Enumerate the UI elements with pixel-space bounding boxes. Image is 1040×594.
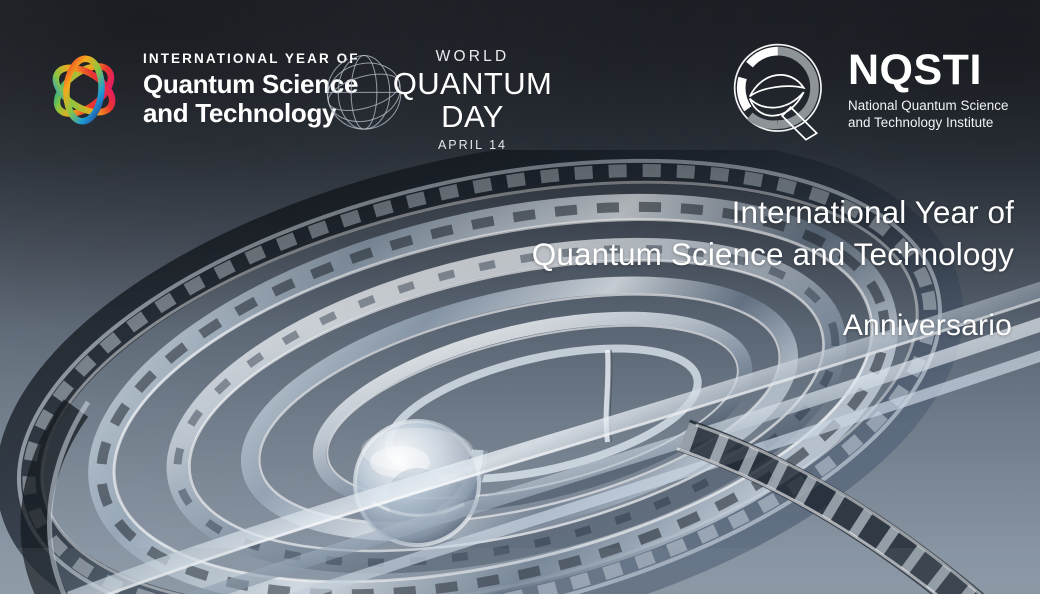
nqsti-subtitle: National Quantum Science and Technology …	[848, 97, 1009, 131]
nqsti-logo: NQSTI National Quantum Science and Techn…	[726, 36, 1009, 144]
slide-headline: International Year of Quantum Science an…	[374, 192, 1014, 276]
nqsti-logo-text: NQSTI National Quantum Science and Techn…	[848, 49, 1009, 131]
headline-line-1: International Year of	[374, 192, 1014, 234]
nqsti-acronym: NQSTI	[848, 49, 1009, 92]
wqd-quantum-day-text: QUANTUM DAY	[370, 68, 575, 133]
nqsti-q-monogram-icon	[726, 36, 834, 144]
world-quantum-day-logo: WORLD QUANTUM DAY APRIL 14	[318, 48, 573, 143]
iyq-atom-logo-icon	[38, 44, 130, 136]
slide-subtitle: Anniversario	[412, 309, 1012, 343]
wqd-logo-text: WORLD QUANTUM DAY APRIL 14	[370, 48, 575, 152]
headline-line-2: Quantum Science and Technology	[374, 234, 1014, 276]
nqsti-subtitle-line-2: and Technology Institute	[848, 115, 993, 130]
international-year-of-quantum-logo: INTERNATIONAL YEAR OF Quantum Science an…	[38, 44, 360, 136]
presentation-slide: INTERNATIONAL YEAR OF Quantum Science an…	[0, 0, 1040, 594]
wqd-world-text: WORLD	[370, 48, 575, 66]
wqd-date-text: APRIL 14	[370, 138, 575, 152]
nqsti-subtitle-line-1: National Quantum Science	[848, 98, 1009, 113]
logo-bar: INTERNATIONAL YEAR OF Quantum Science an…	[0, 0, 1040, 165]
